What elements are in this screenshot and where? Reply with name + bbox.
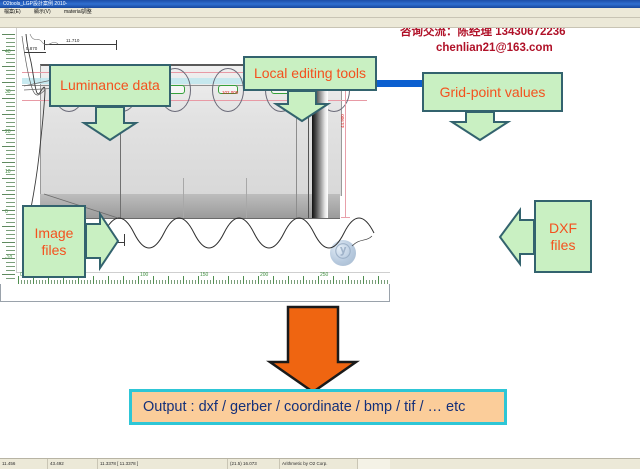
- window-titlebar: O2tools_LGP設計案例 2010-: [0, 0, 640, 8]
- h-tick-label: 250: [320, 273, 328, 278]
- ruler-tick: [342, 280, 343, 284]
- dxf-files-pointer-arrow: [500, 210, 534, 264]
- ruler-tick: [84, 280, 85, 284]
- ruler-tick: [378, 276, 379, 284]
- ruler-tick: [291, 280, 292, 284]
- tool-bar[interactable]: [0, 18, 640, 28]
- ruler-tick: [201, 280, 202, 284]
- grid-point-pointer-arrow: [452, 112, 508, 140]
- ruler-tick: [288, 276, 289, 284]
- ruler-tick: [57, 280, 58, 284]
- menu-item-view[interactable]: 顯示(V): [34, 8, 51, 17]
- ruler-tick: [363, 276, 364, 284]
- ruler-tick: [318, 276, 319, 284]
- ruler-tick: [192, 280, 193, 284]
- ruler-tick: [285, 280, 286, 284]
- output-down-arrow: [270, 307, 356, 392]
- ruler-tick: [75, 280, 76, 284]
- ruler-tick: [204, 280, 205, 284]
- callout-image-files[interactable]: Image files: [22, 205, 86, 278]
- ruler-tick: [60, 280, 61, 284]
- ruler-tick: [132, 280, 133, 284]
- ruler-tick: [279, 280, 280, 284]
- status-cell-credit: Arithmetic by O2 Corp.: [280, 459, 358, 469]
- callout-label: Local editing tools: [254, 65, 366, 82]
- ruler-tick: [93, 276, 94, 284]
- ruler-tick: [375, 280, 376, 284]
- slide-canvas: 1.多層式資料架構的整合式設計介面 深圳市跃创达科技有限公司 咨询交流：陈经理 …: [0, 0, 640, 469]
- ruler-tick: [162, 280, 163, 284]
- ruler-tick: [138, 276, 139, 284]
- ruler-tick: [267, 280, 268, 284]
- ruler-tick: [303, 276, 304, 284]
- ruler-tick: [255, 280, 256, 284]
- ruler-tick: [120, 280, 121, 284]
- output-label: Output : dxf / gerber / coordinate / bmp…: [132, 399, 465, 415]
- ruler-tick: [330, 280, 331, 284]
- ruler-tick: [129, 280, 130, 284]
- ruler-tick: [234, 280, 235, 284]
- ruler-tick: [189, 280, 190, 284]
- ruler-tick: [141, 280, 142, 284]
- ruler-tick: [51, 280, 52, 284]
- ruler-tick: [36, 280, 37, 284]
- status-cell-x: 11.456: [0, 459, 48, 469]
- ruler-tick: [327, 280, 328, 284]
- ruler-tick: [180, 280, 181, 284]
- ruler-tick: [381, 280, 382, 284]
- ruler-tick: [186, 280, 187, 284]
- ruler-tick: [24, 280, 25, 284]
- ruler-tick: [96, 280, 97, 284]
- ruler-tick: [156, 280, 157, 284]
- ruler-tick: [81, 280, 82, 284]
- h-tick-label: 100: [140, 273, 148, 278]
- ruler-tick: [360, 280, 361, 284]
- company-email: chenlian21@163.com: [436, 40, 635, 56]
- ruler-tick: [174, 280, 175, 284]
- ruler-tick: [231, 280, 232, 284]
- ruler-tick: [168, 276, 169, 284]
- ruler-tick: [240, 280, 241, 284]
- callout-label: Grid-point values: [440, 84, 546, 101]
- ruler-tick: [171, 280, 172, 284]
- ruler-tick: [150, 280, 151, 284]
- ruler-tick: [300, 280, 301, 284]
- ruler-tick: [219, 280, 220, 284]
- ruler-tick: [213, 276, 214, 284]
- ruler-tick: [315, 280, 316, 284]
- ruler-tick: [270, 280, 271, 284]
- ruler-tick: [66, 280, 67, 284]
- ruler-tick: [42, 280, 43, 284]
- ruler-tick: [297, 280, 298, 284]
- ruler-tick: [21, 280, 22, 284]
- ruler-tick: [351, 280, 352, 284]
- ruler-tick: [30, 280, 31, 284]
- ruler-tick: [261, 280, 262, 284]
- ruler-tick: [294, 280, 295, 284]
- ruler-tick: [69, 280, 70, 284]
- callout-label-line2: files: [42, 242, 67, 258]
- menu-item-file[interactable]: 檔案(E): [4, 8, 21, 17]
- h-tick-label: 200: [260, 273, 268, 278]
- callout-local-editing-tools[interactable]: Local editing tools: [243, 56, 377, 91]
- ruler-tick: [228, 276, 229, 284]
- ruler-tick: [369, 280, 370, 284]
- ruler-tick: [108, 276, 109, 284]
- ruler-tick: [54, 280, 55, 284]
- window-title: O2tools_LGP設計案例 2010-: [3, 0, 67, 8]
- status-bar: 11.456 43.492 11.3378 [ 11.3378 ] (21.5)…: [0, 458, 640, 469]
- status-cell-extra: (21.5) 16.073: [228, 459, 280, 469]
- callout-label-line2: files: [551, 237, 576, 253]
- ruler-tick: [258, 276, 259, 284]
- ruler-tick: [105, 280, 106, 284]
- ruler-tick: [309, 280, 310, 284]
- menu-item-material[interactable]: material調整: [64, 8, 92, 17]
- ruler-tick: [18, 276, 19, 284]
- ruler-tick: [276, 280, 277, 284]
- ruler-tick: [99, 280, 100, 284]
- ruler-tick: [39, 280, 40, 284]
- ruler-tick: [324, 280, 325, 284]
- ruler-tick: [354, 280, 355, 284]
- ruler-tick: [246, 280, 247, 284]
- ruler-tick: [249, 280, 250, 284]
- ruler-tick: [72, 280, 73, 284]
- ruler-tick: [144, 280, 145, 284]
- ruler-tick: [345, 280, 346, 284]
- ruler-tick: [210, 280, 211, 284]
- ruler-tick: [183, 276, 184, 284]
- ruler-tick: [207, 280, 208, 284]
- ruler-tick: [243, 276, 244, 284]
- ruler-tick: [273, 276, 274, 284]
- ruler-tick: [111, 280, 112, 284]
- ruler-tick: [195, 280, 196, 284]
- ruler-tick: [321, 280, 322, 284]
- ruler-tick: [123, 276, 124, 284]
- ruler-tick: [222, 280, 223, 284]
- ruler-tick: [225, 280, 226, 284]
- callout-label-line1: Image: [35, 225, 74, 241]
- output-formats-box[interactable]: Output : dxf / gerber / coordinate / bmp…: [129, 389, 507, 425]
- ruler-tick: [306, 280, 307, 284]
- ruler-tick: [336, 280, 337, 284]
- ruler-tick: [387, 280, 388, 284]
- ruler-tick: [216, 280, 217, 284]
- ruler-tick: [87, 280, 88, 284]
- menu-bar[interactable]: 檔案(E) 顯示(V) material調整: [0, 8, 640, 18]
- ruler-tick: [90, 280, 91, 284]
- ruler-tick: [366, 280, 367, 284]
- callout-label-wrap: DXF files: [549, 220, 577, 254]
- ruler-tick: [348, 276, 349, 284]
- ruler-tick: [312, 280, 313, 284]
- ruler-tick: [159, 280, 160, 284]
- callout-grid-point-values[interactable]: Grid-point values: [422, 72, 563, 112]
- ruler-tick: [126, 280, 127, 284]
- callout-label-line1: DXF: [549, 220, 577, 236]
- ruler-tick: [45, 280, 46, 284]
- status-cell-y: 43.492: [48, 459, 98, 469]
- ruler-tick: [114, 280, 115, 284]
- status-cell-value: 11.3378 [ 11.3378 ]: [98, 459, 228, 469]
- h-tick-label: 150: [200, 273, 208, 278]
- ruler-tick: [252, 280, 253, 284]
- ruler-tick: [165, 280, 166, 284]
- ruler-tick: [372, 280, 373, 284]
- ruler-tick: [147, 280, 148, 284]
- ruler-tick: [198, 276, 199, 284]
- status-cell-empty: [358, 459, 390, 469]
- ruler-tick: [333, 276, 334, 284]
- ruler-tick: [357, 280, 358, 284]
- ruler-tick: [384, 280, 385, 284]
- ruler-tick: [177, 280, 178, 284]
- ruler-tick: [237, 280, 238, 284]
- callout-luminance-data[interactable]: Luminance data: [49, 64, 171, 107]
- callout-dxf-files[interactable]: DXF files: [534, 200, 592, 273]
- ruler-tick: [27, 280, 28, 284]
- ruler-tick: [339, 280, 340, 284]
- ruler-tick: [282, 280, 283, 284]
- ruler-tick: [135, 280, 136, 284]
- callout-label-wrap: Image files: [35, 225, 74, 259]
- ruler-tick: [117, 280, 118, 284]
- ruler-tick: [102, 280, 103, 284]
- ruler-tick: [264, 280, 265, 284]
- callout-label: Luminance data: [60, 77, 160, 94]
- ruler-tick: [153, 276, 154, 284]
